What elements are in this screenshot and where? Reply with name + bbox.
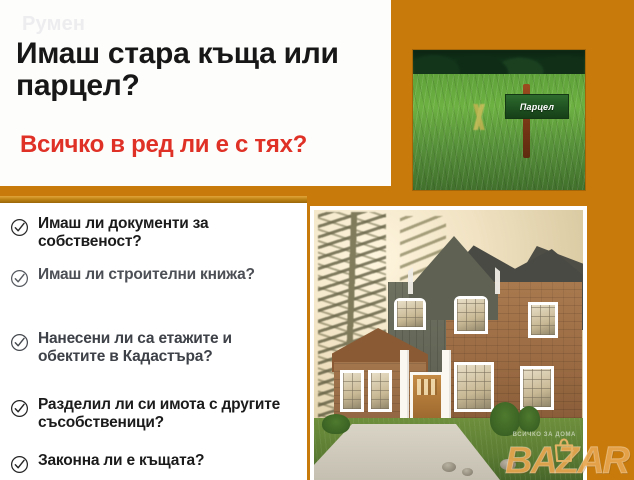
house-window [528,302,558,338]
owner-watermark: Румен [22,13,85,36]
house-photo [314,210,583,480]
checklist-panel: Имаш ли документи за собственост? Имаш л… [0,203,307,480]
plot-photo: Парцел [413,50,585,190]
check-circle-icon [10,269,29,288]
plot-marking [453,104,505,130]
garden-rock [442,462,456,472]
plot-sign: Парцел [505,94,569,119]
house-window [520,366,554,410]
check-circle-icon [10,399,29,418]
list-item: Имаш ли документи за собственост? [10,215,302,251]
list-item: Разделил ли си имота с другите съсобстве… [10,396,302,432]
list-item-label: Имаш ли строителни книжа? [38,266,255,284]
poster-canvas: Румен Имаш стара къща или парцел? Всичко… [0,0,634,480]
list-item-label: Разделил ли си имота с другите съсобстве… [38,396,302,432]
house-photo-frame [310,206,587,480]
page-subtitle: Всичко в ред ли е с тях? [20,132,390,157]
bazar-tagline: ВСИЧКО ЗА ДОМА [513,432,576,438]
list-item-label: Нанесени ли са етажите и обектите в Када… [38,330,302,366]
list-item-label: Законна ли е къщата? [38,452,204,470]
house-window [454,362,494,412]
plot-sign-label: Парцел [520,102,554,112]
list-item-label: Имаш ли документи за собственост? [38,215,302,251]
house-window [394,298,426,330]
check-circle-icon [10,455,29,474]
house-shrub [322,414,350,434]
list-item: Нанесени ли са етажите и обектите в Када… [10,330,302,366]
house-window [454,296,488,334]
garden-rock [500,459,516,470]
gold-divider [0,196,307,203]
list-item: Имаш ли строителни книжа? [10,266,302,288]
house-window [368,370,392,412]
garden-rock [462,468,473,476]
list-item: Законна ли е къщата? [10,452,302,474]
check-circle-icon [10,333,29,352]
house-window [340,370,364,412]
check-circle-icon [10,218,29,237]
house-shrub [518,406,540,432]
headline-panel: Румен Имаш стара къща или парцел? Всичко… [0,0,391,186]
house-shrub [490,402,520,436]
page-title: Имаш стара къща или парцел? [16,38,376,102]
plot-grass [413,74,585,190]
